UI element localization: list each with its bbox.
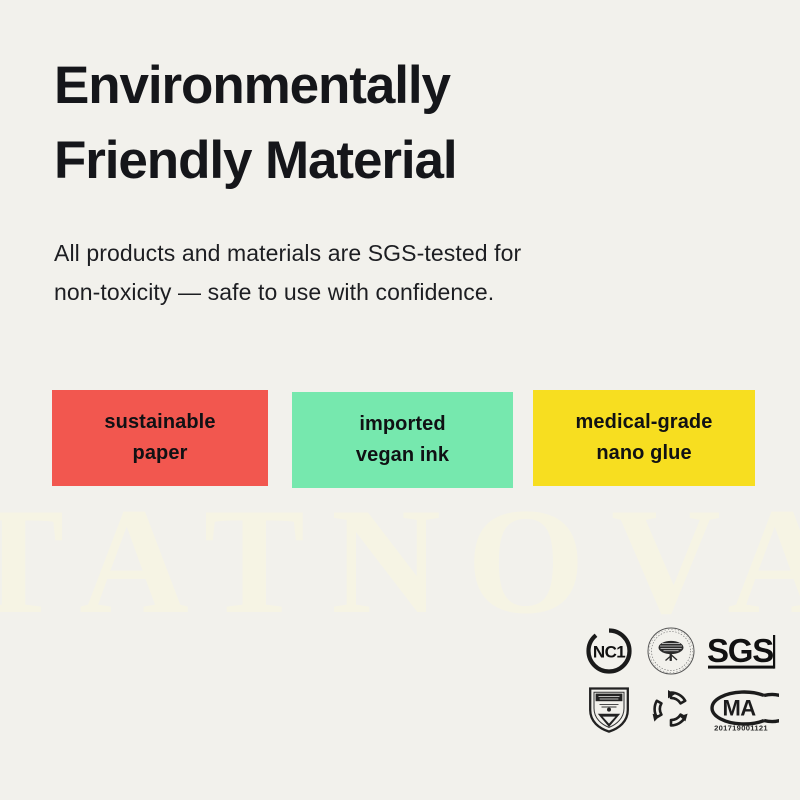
page-subtitle-line-2: non-toxicity — safe to use with confiden…	[54, 273, 674, 312]
brand-watermark: TATNOVA	[0, 486, 800, 636]
chip-label-line-1: medical-grade	[576, 407, 713, 438]
cma-oval-icon: MA 201719001121	[702, 680, 780, 738]
chip-label-line-1: sustainable	[104, 407, 215, 438]
recycling-arrows-icon	[640, 680, 702, 738]
chip-label-line-2: vegan ink	[356, 440, 449, 471]
page-title-line-2: Friendly Material	[54, 123, 694, 198]
chip-medical-grade-nano-glue: medical-grade nano glue	[533, 390, 755, 486]
page-title: Environmentally Friendly Material	[54, 48, 694, 198]
chip-label-line-2: paper	[133, 438, 188, 469]
sgs-text: SGS	[707, 632, 773, 669]
nc1-circle-icon: NC1	[578, 622, 640, 680]
chip-imported-vegan-ink: imported vegan ink	[292, 392, 513, 488]
chip-sustainable-paper: sustainable paper	[52, 390, 268, 486]
tree-seal-icon	[640, 622, 702, 680]
material-chip-group: sustainable paper imported vegan ink med…	[52, 390, 762, 490]
sgs-wordmark-icon: SGS	[702, 622, 780, 680]
chip-label-line-2: nano glue	[596, 438, 691, 469]
page-subtitle: All products and materials are SGS-teste…	[54, 234, 674, 312]
shield-badge-icon	[578, 680, 640, 738]
chip-label-line-1: imported	[359, 409, 445, 440]
svg-text:NC1: NC1	[593, 643, 625, 662]
cma-text: MA	[722, 695, 756, 720]
page-subtitle-line-1: All products and materials are SGS-teste…	[54, 234, 674, 273]
cma-code: 201719001121	[714, 723, 768, 732]
certification-logo-grid: NC1 SGS	[578, 622, 780, 742]
page-title-line-1: Environmentally	[54, 48, 694, 123]
